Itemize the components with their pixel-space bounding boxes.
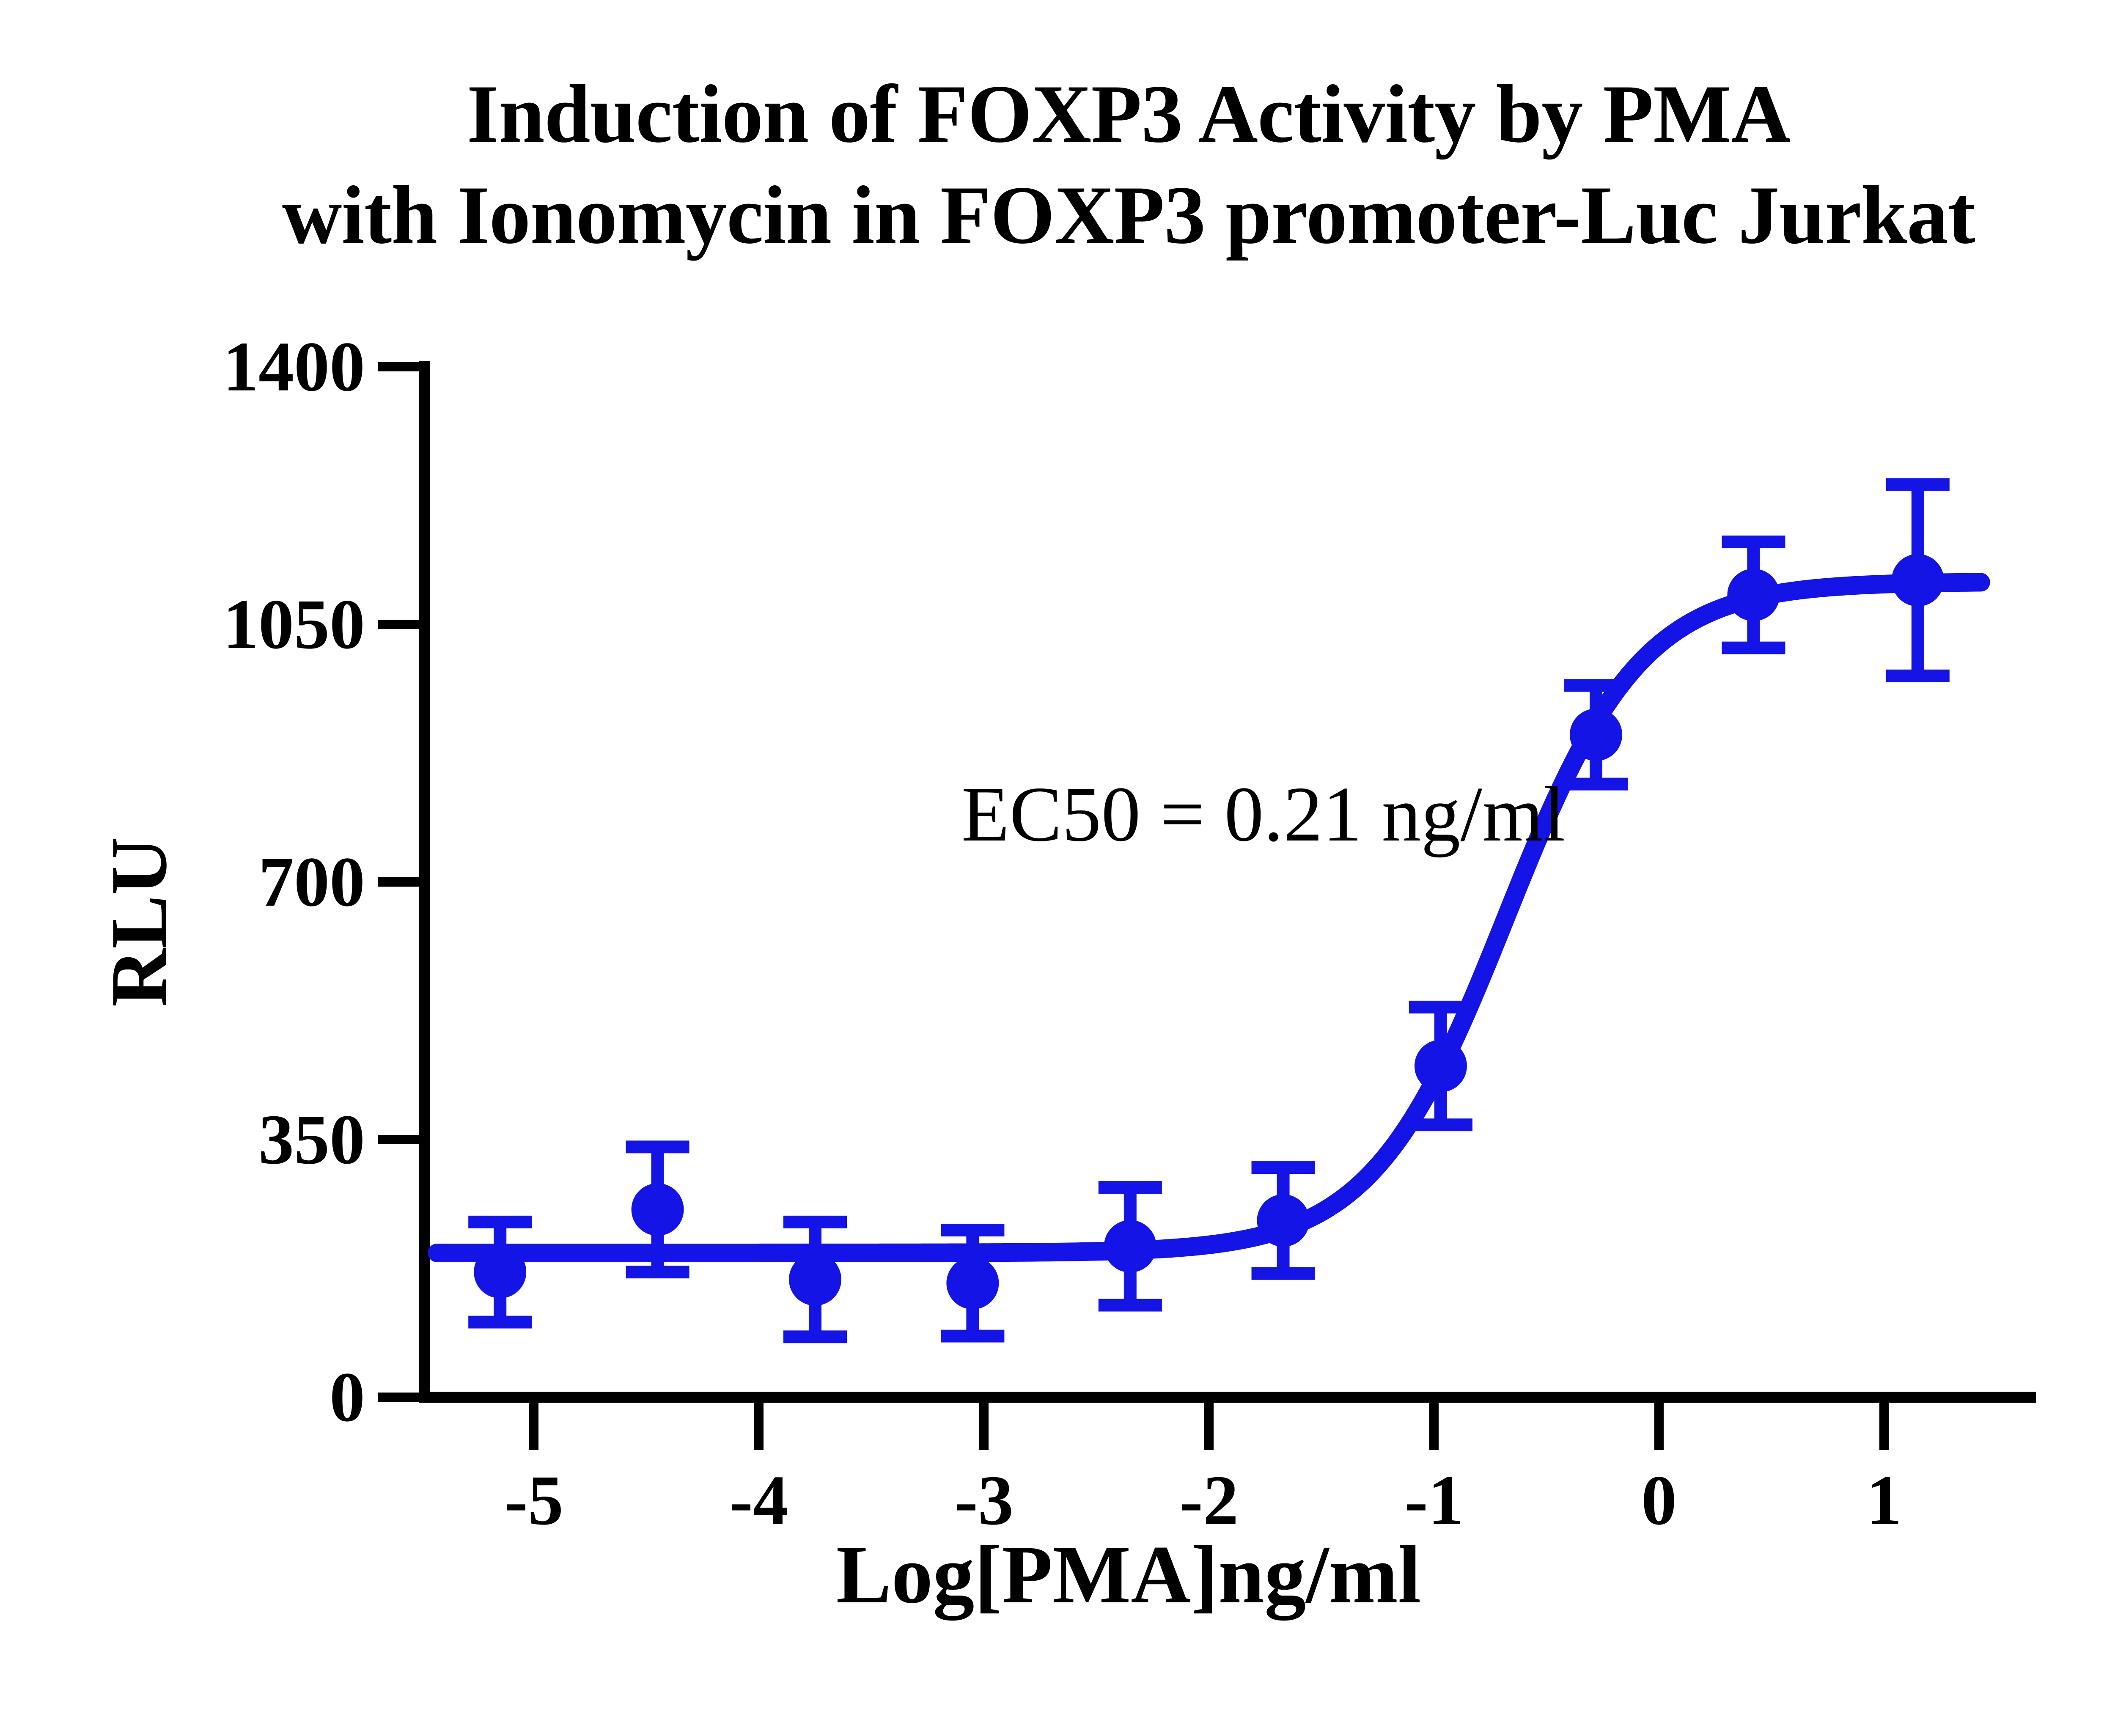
x-axis-tick-4 [1429, 1403, 1439, 1450]
data-marker-0 [474, 1246, 526, 1298]
error-bar-cap-bottom-4 [1099, 1299, 1162, 1312]
error-bar-cap-bottom-3 [941, 1330, 1004, 1343]
error-bar-cap-top-1 [626, 1140, 689, 1153]
x-tick-label-0: -5 [470, 1465, 597, 1536]
y-tick-label-3: 1050 [128, 589, 365, 660]
x-axis-tick-1 [754, 1403, 764, 1450]
y-tick-label-0: 0 [128, 1362, 365, 1433]
y-axis-tick-4 [378, 362, 424, 371]
data-marker-1 [632, 1183, 684, 1236]
x-tick-label-5: 0 [1596, 1465, 1722, 1536]
error-bar-cap-bottom-7 [1564, 778, 1628, 791]
error-bar-cap-top-5 [1252, 1161, 1315, 1174]
ec50-annotation: EC50 = 0.21 ng/ml [961, 769, 1566, 860]
chart-page: Induction of FOXP3 Activity by PMA with … [0, 0, 2115, 1736]
y-axis-label: RLU [93, 837, 185, 1007]
x-axis-tick-3 [1204, 1403, 1214, 1450]
error-bar-cap-top-4 [1099, 1181, 1162, 1194]
y-axis-tick-2 [378, 877, 424, 887]
x-tick-label-2: -3 [920, 1465, 1047, 1536]
axes-group [378, 361, 2036, 1450]
x-axis-tick-0 [529, 1403, 538, 1450]
data-marker-9 [1892, 554, 1944, 607]
data-marker-2 [789, 1253, 841, 1306]
x-axis-tick-6 [1879, 1403, 1889, 1450]
error-bar-cap-bottom-6 [1409, 1118, 1472, 1131]
y-axis-tick-3 [378, 620, 424, 629]
error-bar-cap-bottom-9 [1886, 670, 1950, 682]
error-bar-cap-top-8 [1722, 536, 1785, 548]
x-axis-spine [419, 1392, 2036, 1403]
error-bar-cap-top-3 [941, 1224, 1004, 1236]
y-axis-tick-0 [378, 1393, 424, 1402]
x-axis-tick-2 [979, 1403, 989, 1450]
error-bar-cap-top-0 [468, 1216, 532, 1228]
data-marker-7 [1570, 709, 1622, 761]
data-marker-4 [1104, 1220, 1156, 1272]
x-tick-label-4: -1 [1371, 1465, 1497, 1536]
data-marker-6 [1415, 1040, 1467, 1092]
data-marker-8 [1727, 569, 1780, 621]
plot-area: 035070010501400 -5-4-3-2-101 RLU Log[PMA… [0, 0, 2115, 1736]
x-tick-label-1: -4 [695, 1465, 822, 1536]
x-axis-label: Log[PMA]ng/ml [0, 1527, 2115, 1622]
error-bar-cap-top-6 [1409, 1001, 1472, 1014]
error-bar-cap-top-7 [1564, 679, 1628, 692]
y-tick-label-1: 350 [128, 1104, 365, 1175]
error-bar-cap-bottom-5 [1252, 1267, 1315, 1280]
x-tick-label-6: 1 [1821, 1465, 1947, 1536]
y-axis-tick-1 [378, 1135, 424, 1144]
data-marker-5 [1257, 1194, 1310, 1247]
data-marker-3 [946, 1257, 999, 1309]
error-bar-cap-bottom-2 [783, 1330, 847, 1343]
error-bar-cap-bottom-1 [626, 1266, 689, 1278]
error-bar-cap-top-2 [783, 1216, 847, 1228]
y-tick-label-4: 1400 [128, 331, 365, 402]
error-bar-cap-bottom-8 [1722, 642, 1785, 654]
error-bar-cap-bottom-0 [468, 1316, 532, 1329]
x-tick-label-3: -2 [1145, 1465, 1272, 1536]
x-axis-tick-5 [1654, 1403, 1664, 1450]
error-bar-cap-top-9 [1886, 478, 1950, 491]
data-markers-group [474, 554, 1944, 1310]
